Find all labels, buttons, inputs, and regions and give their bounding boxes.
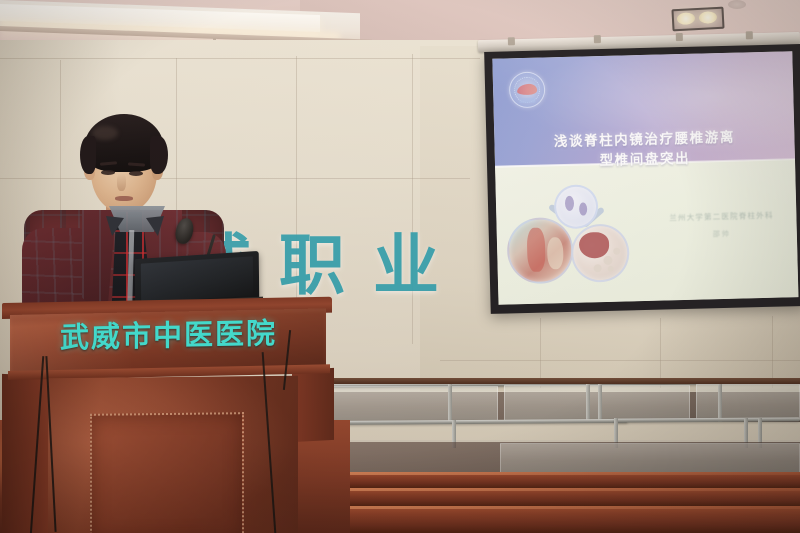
bubble-right-speck xyxy=(594,264,602,272)
seating-glass-panel xyxy=(504,385,690,421)
presenter-eye-right xyxy=(129,171,143,176)
slide-subtitle-block: 兰州大学第二医院脊柱外科 邵帅 xyxy=(652,206,791,244)
bubble-top-shape-2 xyxy=(579,202,587,215)
screen-frame: 浅谈脊柱内镜治疗腰椎游离 型椎间盘突出 xyxy=(484,44,800,314)
bubble-left-photo xyxy=(506,217,574,285)
roller-bracket xyxy=(746,31,753,39)
slide-presenter-name: 邵帅 xyxy=(653,224,791,244)
bubble-left-shape-1 xyxy=(527,227,546,271)
roller-bracket xyxy=(594,35,601,43)
bubble-right-speck xyxy=(608,266,614,272)
smoke-detector-icon xyxy=(728,0,746,9)
slide-title: 浅谈脊柱内镜治疗腰椎游离 型椎间盘突出 xyxy=(494,127,795,174)
roller-bracket xyxy=(508,37,515,45)
wall-char-1: 职 xyxy=(279,233,345,299)
bubble-right-blob xyxy=(579,232,610,259)
bubble-top-shape-1 xyxy=(565,196,574,211)
seating-post xyxy=(718,382,722,422)
recessed-double-downlight-icon xyxy=(671,7,724,32)
bubble-left-shape-2 xyxy=(547,237,564,269)
presenter-nose xyxy=(117,173,126,191)
presenter-mouth xyxy=(115,196,133,201)
seating-post xyxy=(586,383,590,423)
presenter-eye-left xyxy=(101,170,115,175)
speaking-podium: 武威市中医医院 xyxy=(2,303,332,533)
seating-top-cap xyxy=(290,378,800,384)
seating-post xyxy=(448,384,452,424)
bubble-right-speck xyxy=(603,256,612,265)
seating-post xyxy=(598,383,602,423)
podium-right-edge xyxy=(292,368,334,442)
bubble-right-speck xyxy=(613,248,620,255)
seating-glass-panel-front xyxy=(500,443,800,473)
podium-sign-text: 武威市中医医院 xyxy=(60,318,312,352)
presenter-hair-side-left xyxy=(80,136,96,174)
screen-surface: 浅谈脊柱内镜治疗腰椎游离 型椎间盘突出 xyxy=(492,51,798,305)
wall-char-2: 业 xyxy=(373,233,439,299)
conference-hall-photo: 威 职 业 浅谈脊柱内镜治疗腰椎游离 型椎间 xyxy=(0,0,800,533)
presenter-hair-side-right xyxy=(150,136,168,174)
seating-glass-panel xyxy=(696,384,800,420)
bubble-right-photo xyxy=(571,223,630,282)
emblem-swoosh xyxy=(517,84,537,96)
seating-wood-rail-3 xyxy=(292,506,800,533)
molecule-photo-bubbles-icon xyxy=(506,183,637,292)
seating-wood-rail-2 xyxy=(292,488,800,506)
emblem-plate xyxy=(519,98,535,103)
projection-screen: 浅谈脊柱内镜治疗腰椎游离 型椎间盘突出 xyxy=(484,38,800,319)
seating-wood-rail-1 xyxy=(292,472,800,488)
roller-bracket xyxy=(676,33,683,41)
downlight-frame xyxy=(671,7,724,32)
podium-decorative-panel xyxy=(90,412,244,533)
